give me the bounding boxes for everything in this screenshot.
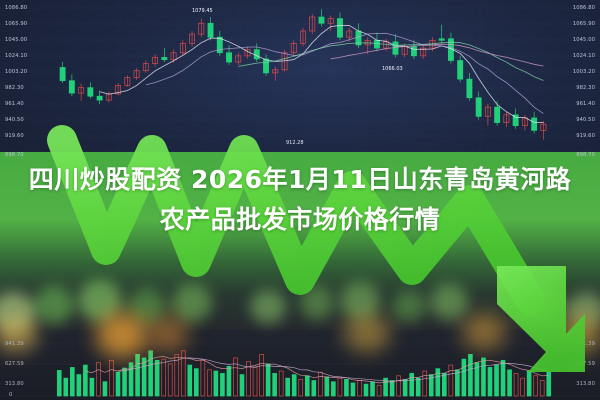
banner-title: 四川炒股配资 2026年1月11日山东青岛黄河路 农产品批发市场价格行情 <box>0 160 600 240</box>
title-line-2: 农产品批发市场价格行情 <box>0 200 600 240</box>
price-low-annotation: 912.28 <box>286 140 304 146</box>
price-high-annotation-2: 1066.03 <box>382 66 403 72</box>
arrow-head <box>497 266 585 372</box>
banner-image: 1086.80 1065.90 1045.00 1024.10 1003.20 … <box>0 0 600 400</box>
title-line-1: 四川炒股配资 2026年1月11日山东青岛黄河路 <box>0 160 600 200</box>
